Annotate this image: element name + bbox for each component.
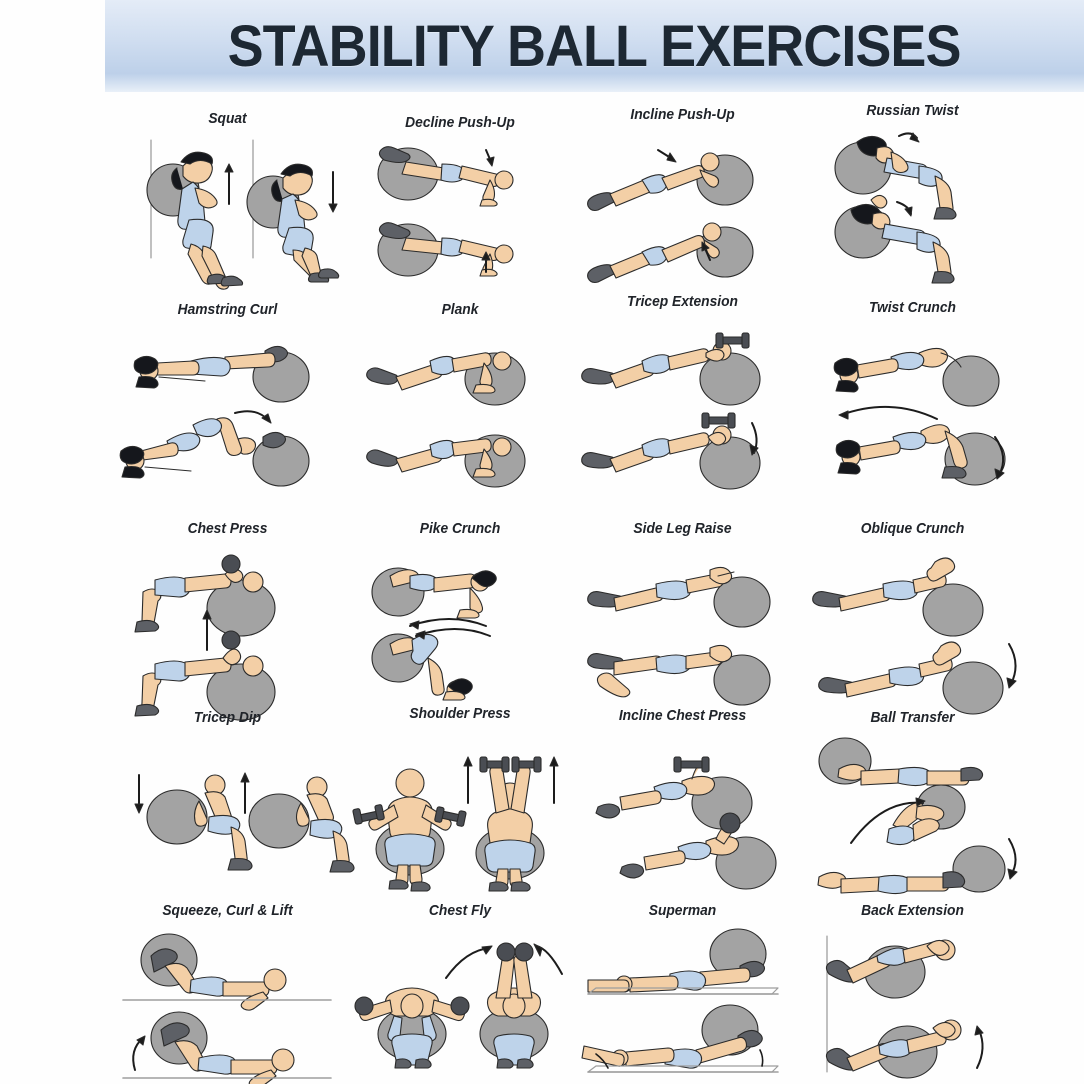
exercise-art-superman bbox=[570, 922, 795, 1082]
exercise-art-decline-push-up bbox=[350, 132, 570, 282]
exercise-row-4: Tricep Dip bbox=[105, 697, 1084, 892]
exercise-cell-oblique-crunch[interactable]: Oblique Crunch bbox=[795, 502, 1030, 697]
exercise-cell-incline-push-up[interactable]: Incline Push-Up bbox=[570, 92, 795, 287]
exercise-cell-back-extension[interactable]: Back Extension bbox=[795, 892, 1030, 1084]
exercise-label-decline-push-up: Decline Push-Up bbox=[359, 114, 561, 131]
exercise-cell-hamstring-curl[interactable]: Hamstring Curl bbox=[105, 287, 350, 502]
exercise-art-russian-twist bbox=[795, 120, 1030, 280]
exercise-cell-russian-twist[interactable]: Russian Twist bbox=[795, 92, 1030, 287]
exercise-label-superman: Superman bbox=[579, 902, 786, 919]
exercise-cell-tricep-extension[interactable]: Tricep Extension bbox=[570, 287, 795, 502]
exercise-label-plank: Plank bbox=[359, 301, 561, 318]
exercise-art-twist-crunch bbox=[795, 319, 1030, 497]
exercise-label-twist-crunch: Twist Crunch bbox=[804, 299, 1020, 316]
exercise-art-tricep-extension bbox=[570, 313, 795, 495]
exercise-grid: Squat bbox=[105, 92, 1084, 1084]
exercise-art-hamstring-curl bbox=[105, 321, 350, 496]
exercise-label-squeeze-curl-lift: Squeeze, Curl & Lift bbox=[115, 902, 340, 919]
exercise-cell-pike-crunch[interactable]: Pike Crunch bbox=[350, 502, 570, 697]
exercise-art-tricep-dip bbox=[105, 729, 350, 889]
exercise-art-back-extension bbox=[795, 922, 1030, 1082]
poster: STABILITY BALL EXERCISES Squat bbox=[0, 0, 1084, 1084]
exercise-art-pike-crunch bbox=[350, 540, 570, 705]
exercise-art-plank bbox=[350, 321, 570, 496]
exercise-label-incline-chest-press: Incline Chest Press bbox=[579, 707, 786, 724]
exercise-label-pike-crunch: Pike Crunch bbox=[359, 520, 561, 537]
exercise-label-oblique-crunch: Oblique Crunch bbox=[804, 520, 1020, 537]
exercise-cell-squeeze-curl-lift[interactable]: Squeeze, Curl & Lift bbox=[105, 892, 350, 1084]
exercise-label-incline-push-up: Incline Push-Up bbox=[579, 106, 786, 123]
exercise-cell-side-leg-raise[interactable]: Side Leg Raise bbox=[570, 502, 795, 697]
exercise-cell-tricep-dip[interactable]: Tricep Dip bbox=[105, 697, 350, 892]
exercise-cell-plank[interactable]: Plank bbox=[350, 287, 570, 502]
title-banner: STABILITY BALL EXERCISES bbox=[105, 0, 1084, 92]
exercise-cell-chest-fly[interactable]: Chest Fly bbox=[350, 892, 570, 1084]
exercise-row-2: Hamstring Curl bbox=[105, 287, 1084, 502]
exercise-label-chest-press: Chest Press bbox=[115, 520, 340, 537]
exercise-art-chest-fly bbox=[350, 922, 570, 1082]
exercise-cell-chest-press[interactable]: Chest Press bbox=[105, 502, 350, 697]
exercise-label-tricep-extension: Tricep Extension bbox=[579, 293, 786, 310]
exercise-label-ball-transfer: Ball Transfer bbox=[804, 709, 1020, 726]
exercise-art-incline-chest-press bbox=[570, 727, 795, 892]
exercise-row-5: Squeeze, Curl & Lift bbox=[105, 892, 1084, 1084]
exercise-art-chest-press bbox=[105, 540, 350, 705]
exercise-cell-shoulder-press[interactable]: Shoulder Press bbox=[350, 697, 570, 892]
exercise-cell-twist-crunch[interactable]: Twist Crunch bbox=[795, 287, 1030, 502]
exercise-cell-superman[interactable]: Superman bbox=[570, 892, 795, 1084]
exercise-cell-decline-push-up[interactable]: Decline Push-Up bbox=[350, 92, 570, 287]
exercise-art-squeeze-curl-lift bbox=[105, 922, 350, 1082]
exercise-art-side-leg-raise bbox=[570, 540, 795, 705]
exercise-art-oblique-crunch bbox=[795, 540, 1030, 705]
exercise-cell-ball-transfer[interactable]: Ball Transfer bbox=[795, 697, 1030, 892]
exercise-cell-incline-chest-press[interactable]: Incline Chest Press bbox=[570, 697, 795, 892]
exercise-row-3: Chest Press bbox=[105, 502, 1084, 697]
exercise-label-hamstring-curl: Hamstring Curl bbox=[115, 301, 340, 318]
exercise-row-1: Squat bbox=[105, 92, 1084, 287]
exercise-art-squat bbox=[105, 128, 350, 283]
exercise-art-ball-transfer bbox=[795, 729, 1030, 897]
exercise-label-tricep-dip: Tricep Dip bbox=[115, 709, 340, 726]
exercise-label-chest-fly: Chest Fly bbox=[359, 902, 561, 919]
exercise-label-russian-twist: Russian Twist bbox=[804, 102, 1020, 119]
exercise-label-side-leg-raise: Side Leg Raise bbox=[579, 520, 786, 537]
exercise-label-back-extension: Back Extension bbox=[804, 902, 1020, 919]
exercise-art-incline-push-up bbox=[570, 124, 795, 282]
exercise-art-shoulder-press bbox=[350, 725, 570, 890]
exercise-cell-squat[interactable]: Squat bbox=[105, 92, 350, 287]
exercise-label-shoulder-press: Shoulder Press bbox=[359, 705, 561, 722]
poster-title: STABILITY BALL EXERCISES bbox=[228, 13, 961, 80]
exercise-label-squat: Squat bbox=[115, 110, 340, 127]
